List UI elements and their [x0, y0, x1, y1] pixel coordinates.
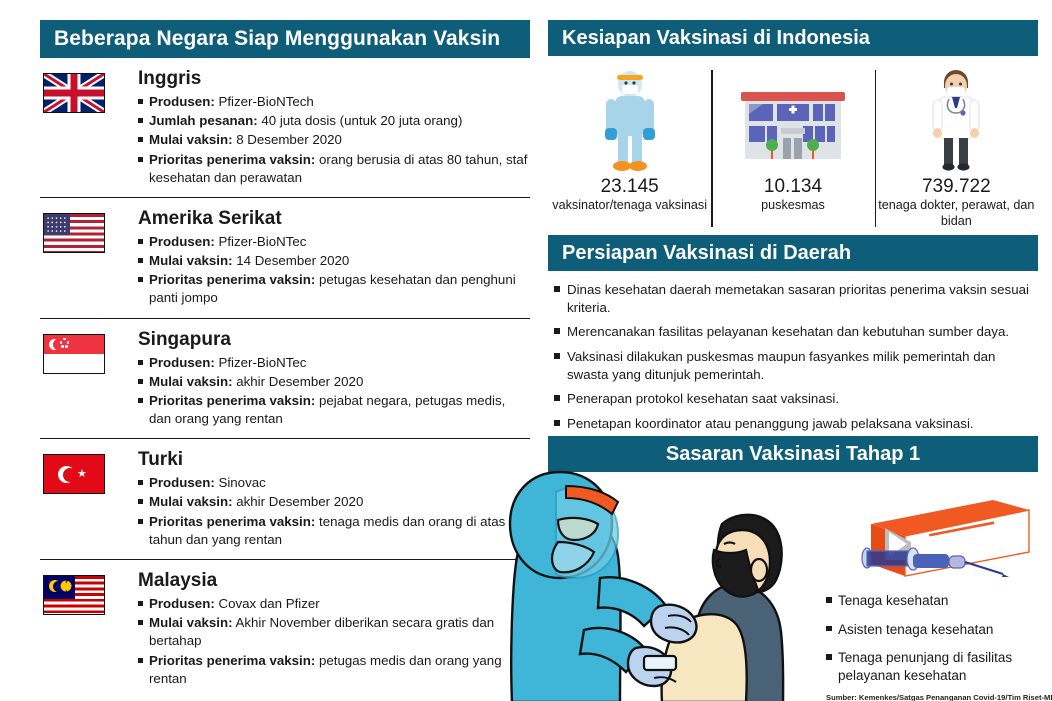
vaccination-scene-illustration: [508, 466, 838, 701]
country-facts: Produsen: Pfizer-BioNTec Mulai vaksin: a…: [138, 354, 530, 429]
fact-item: Produsen: Pfizer-BioNTec: [138, 354, 530, 372]
fact-label: Produsen:: [149, 234, 215, 249]
flag-cell: [40, 330, 138, 430]
fact-item: Mulai vaksin: Akhir November diberikan s…: [138, 614, 530, 650]
country-name: Amerika Serikat: [138, 209, 530, 230]
fact-value: 14 Desember 2020: [236, 253, 349, 268]
fact-label: Mulai vaksin:: [149, 132, 233, 147]
preparation-item: Vaksinasi dilakukan puskesmas maupun fas…: [554, 348, 1034, 383]
country-row: Singapura Produsen: Pfizer-BioNTec Mulai…: [40, 319, 530, 440]
fact-value: Pfizer-BioNTec: [218, 234, 306, 249]
fact-label: Prioritas penerima vaksin:: [149, 272, 315, 287]
country-row: Malaysia Produsen: Covax dan Pfizer Mula…: [40, 560, 530, 698]
preparation-list: Dinas kesehatan daerah memetakan sasaran…: [548, 271, 1038, 457]
stat-card: 739.722 tenaga dokter, perawat, dan bida…: [875, 60, 1038, 231]
fact-item: Produsen: Sinovac: [138, 474, 530, 492]
country-facts: Produsen: Pfizer-BioNTec Mulai vaksin: 1…: [138, 233, 530, 308]
country-name: Singapura: [138, 330, 530, 351]
readiness-stats-row: 23.145 vaksinator/tenaga vaksinasi: [548, 56, 1038, 231]
flag-malaysia-icon: [43, 575, 105, 615]
fact-item: Prioritas penerima vaksin: tenaga medis …: [138, 513, 530, 549]
fact-label: Jumlah pesanan:: [149, 113, 258, 128]
country-row: Amerika Serikat Produsen: Pfizer-BioNTec…: [40, 198, 530, 319]
stat-card: 10.134 puskesmas: [711, 60, 874, 231]
fact-item: Mulai vaksin: akhir Desember 2020: [138, 373, 530, 391]
fact-value: Covax dan Pfizer: [218, 596, 319, 611]
flag-turkey-icon: ★: [43, 454, 105, 494]
flag-cell: ★: [40, 450, 138, 550]
fact-value: 40 juta dosis (untuk 20 juta orang): [261, 113, 462, 128]
fact-item: Mulai vaksin: akhir Desember 2020: [138, 493, 530, 511]
country-details: Inggris Produsen: Pfizer-BioNTech Jumlah…: [138, 69, 530, 188]
fact-label: Prioritas penerima vaksin:: [149, 393, 315, 408]
flag-cell: [40, 69, 138, 188]
fact-item: Produsen: Pfizer-BioNTech: [138, 93, 530, 111]
vaccine-box-syringe-illustration: [843, 498, 1033, 599]
countries-panel: Beberapa Negara Siap Menggunakan Vaksin …: [40, 20, 530, 698]
countries-panel-title: Beberapa Negara Siap Menggunakan Vaksin: [40, 20, 530, 58]
stat-card: 23.145 vaksinator/tenaga vaksinasi: [548, 60, 711, 231]
flag-singapore-icon: [43, 334, 105, 374]
readiness-panel-title: Kesiapan Vaksinasi di Indonesia: [548, 20, 1038, 56]
flag-usa-icon: [43, 213, 105, 253]
country-name: Malaysia: [138, 571, 530, 592]
readiness-panel: Kesiapan Vaksinasi di Indonesia: [548, 20, 1038, 464]
clinic-building-icon: [737, 60, 849, 172]
flag-cell: [40, 571, 138, 689]
flag-uk-icon: [43, 73, 105, 113]
flag-cell: [40, 209, 138, 309]
fact-label: Produsen:: [149, 475, 215, 490]
fact-item: Prioritas penerima vaksin: petugas keseh…: [138, 271, 530, 307]
infographic-root: Beberapa Negara Siap Menggunakan Vaksin …: [0, 0, 1052, 701]
stat-label: tenaga dokter, perawat, dan bidan: [875, 198, 1038, 229]
source-attribution: Sumber: Kemenkes/Satgas Penanganan Covid…: [826, 693, 1052, 701]
stat-number: 739.722: [922, 176, 991, 198]
fact-value: Pfizer-BioNTech: [218, 94, 313, 109]
stat-label: vaksinator/tenaga vaksinasi: [552, 198, 707, 214]
fact-item: Jumlah pesanan: 40 juta dosis (untuk 20 …: [138, 112, 530, 130]
stat-number: 23.145: [601, 176, 659, 198]
fact-value: 8 Desember 2020: [236, 132, 342, 147]
fact-label: Produsen:: [149, 355, 215, 370]
fact-label: Mulai vaksin:: [149, 494, 233, 509]
preparation-item: Penetapan koordinator atau penanggung ja…: [554, 415, 1034, 433]
fact-item: Prioritas penerima vaksin: orang berusia…: [138, 151, 530, 187]
vaccinator-ppe-icon: [595, 60, 665, 172]
target-item: Asisten tenaga kesehatan: [826, 621, 1038, 639]
fact-item: Prioritas penerima vaksin: petugas medis…: [138, 652, 530, 688]
country-facts: Produsen: Covax dan Pfizer Mulai vaksin:…: [138, 595, 530, 688]
fact-item: Prioritas penerima vaksin: pejabat negar…: [138, 392, 530, 428]
country-details: Malaysia Produsen: Covax dan Pfizer Mula…: [138, 571, 530, 689]
preparation-item: Dinas kesehatan daerah memetakan sasaran…: [554, 281, 1034, 316]
fact-item: Produsen: Covax dan Pfizer: [138, 595, 530, 613]
fact-label: Mulai vaksin:: [149, 374, 233, 389]
fact-label: Prioritas penerima vaksin:: [149, 653, 315, 668]
stat-label: puskesmas: [761, 198, 825, 214]
preparation-panel-title: Persiapan Vaksinasi di Daerah: [548, 235, 1038, 271]
country-details: Amerika Serikat Produsen: Pfizer-BioNTec…: [138, 209, 530, 309]
fact-value: Pfizer-BioNTec: [218, 355, 306, 370]
targets-panel-body: Tenaga kesehatan Asisten tenaga kesehata…: [548, 472, 1038, 682]
fact-item: Produsen: Pfizer-BioNTec: [138, 233, 530, 251]
fact-label: Prioritas penerima vaksin:: [149, 152, 315, 167]
fact-item: Mulai vaksin: 14 Desember 2020: [138, 252, 530, 270]
country-facts: Produsen: Pfizer-BioNTech Jumlah pesanan…: [138, 93, 530, 187]
country-facts: Produsen: Sinovac Mulai vaksin: akhir De…: [138, 474, 530, 549]
country-details: Singapura Produsen: Pfizer-BioNTec Mulai…: [138, 330, 530, 430]
targets-list: Tenaga kesehatan Asisten tenaga kesehata…: [826, 592, 1038, 695]
country-name: Turki: [138, 450, 530, 471]
fact-item: Mulai vaksin: 8 Desember 2020: [138, 131, 530, 149]
country-name: Inggris: [138, 69, 530, 90]
stat-number: 10.134: [764, 176, 822, 198]
target-item: Tenaga kesehatan: [826, 592, 1038, 610]
fact-label: Mulai vaksin:: [149, 615, 233, 630]
targets-panel: Sasaran Vaksinasi Tahap 1: [548, 436, 1038, 682]
fact-label: Produsen:: [149, 596, 215, 611]
fact-value: akhir Desember 2020: [236, 374, 363, 389]
fact-label: Produsen:: [149, 94, 215, 109]
preparation-item: Merencanakan fasilitas pelayanan kesehat…: [554, 323, 1034, 341]
doctor-icon: [921, 60, 991, 172]
country-details: Turki Produsen: Sinovac Mulai vaksin: ak…: [138, 450, 530, 550]
fact-value: akhir Desember 2020: [236, 494, 363, 509]
country-row: Inggris Produsen: Pfizer-BioNTech Jumlah…: [40, 58, 530, 198]
preparation-item: Penerapan protokol kesehatan saat vaksin…: [554, 390, 1034, 408]
fact-value: Sinovac: [218, 475, 265, 490]
fact-label: Prioritas penerima vaksin:: [149, 514, 315, 529]
target-item: Tenaga penunjang di fasilitas pelayanan …: [826, 649, 1038, 684]
country-row: ★ Turki Produsen: Sinovac Mulai vaksin: …: [40, 439, 530, 560]
fact-label: Mulai vaksin:: [149, 253, 233, 268]
